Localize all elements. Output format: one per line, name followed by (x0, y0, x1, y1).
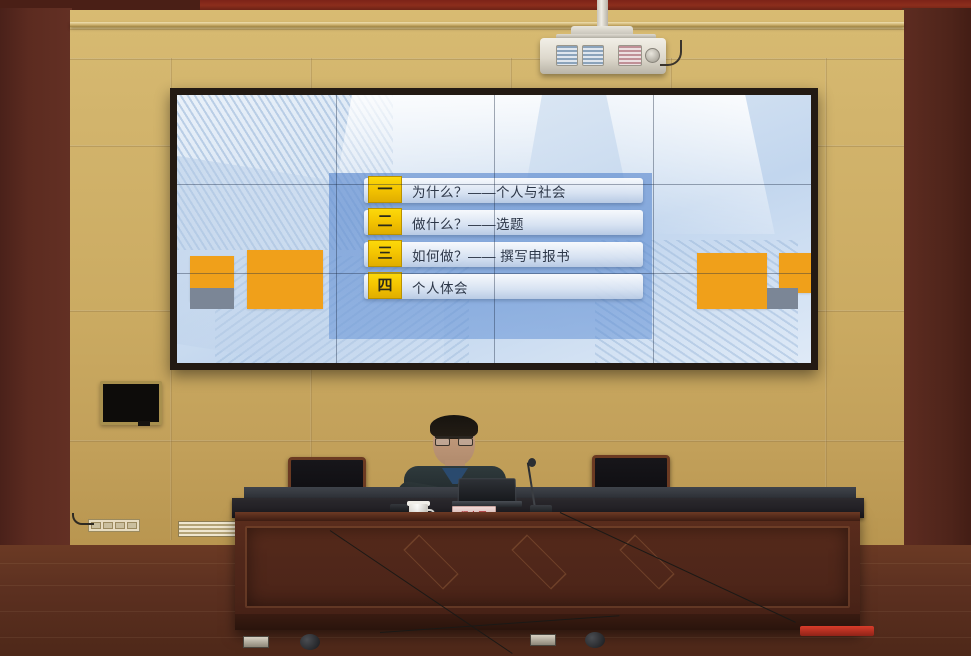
wall-speaker-panel (100, 381, 162, 425)
ceiling-projector (540, 38, 666, 74)
slide-row: 一 为什么？——个人与社会 (364, 178, 643, 203)
conference-room-photo: 一 为什么？——个人与社会 二 做什么？——选题 三 如何做？—— 撰写申报书 … (0, 0, 971, 656)
laptop-screen[interactable] (458, 478, 517, 503)
slide-row-text: 个人体会 (412, 277, 468, 297)
slide-grey-block-2 (767, 288, 799, 309)
wall-speaker-bracket (138, 421, 150, 426)
video-wall-frame: 一 为什么？——个人与社会 二 做什么？——选题 三 如何做？—— 撰写申报书 … (170, 88, 818, 370)
glasses-icon (435, 436, 473, 444)
wall-panel-left (0, 8, 72, 553)
wall-power-sockets[interactable] (88, 519, 140, 532)
floor-red-tape-strip (800, 626, 874, 636)
slide-row: 二 做什么？——选题 (364, 210, 643, 235)
podium-top-edge (235, 512, 860, 521)
podium-panel (245, 526, 850, 608)
slide-row-text: 为什么？——个人与社会 (412, 181, 566, 201)
floor-power-box-1[interactable] (243, 636, 269, 648)
slide-row-text: 做什么？——选题 (412, 213, 524, 233)
slide-row: 四 个人体会 (364, 274, 643, 299)
slide-row-number: 四 (368, 272, 402, 299)
video-wall-screen[interactable]: 一 为什么？——个人与社会 二 做什么？——选题 三 如何做？—— 撰写申报书 … (177, 95, 811, 363)
projector-vent-left (556, 45, 578, 66)
wall-rail (70, 22, 904, 27)
microphone-head-icon (528, 458, 536, 467)
speaker-podium (235, 512, 860, 630)
wall-panel-right (902, 8, 971, 553)
slide-row-number: 三 (368, 240, 402, 267)
floor-cable-coil-1 (300, 634, 320, 650)
slide-grey-block-1 (190, 288, 234, 309)
slide-row-number: 一 (368, 176, 402, 203)
floor-power-box-2[interactable] (530, 634, 556, 646)
wall-cable (72, 513, 94, 525)
projector-vent-right (618, 45, 642, 66)
slide-row-text: 如何做？—— 撰写申报书 (412, 245, 570, 265)
slide-row-number: 二 (368, 208, 402, 235)
slide-orange-block-3 (697, 253, 767, 309)
floor-cable-coil-2 (585, 632, 605, 648)
podium-diamond-2 (511, 534, 566, 589)
slide-row: 三 如何做？—— 撰写申报书 (364, 242, 643, 267)
slide-agenda-list: 一 为什么？——个人与社会 二 做什么？——选题 三 如何做？—— 撰写申报书 … (364, 178, 643, 306)
podium-diamond-1 (403, 534, 458, 589)
projector-vent-mid (582, 45, 604, 66)
projector-lens-icon (645, 48, 660, 63)
podium-base (235, 614, 860, 630)
slide-orange-block-2 (247, 250, 323, 309)
